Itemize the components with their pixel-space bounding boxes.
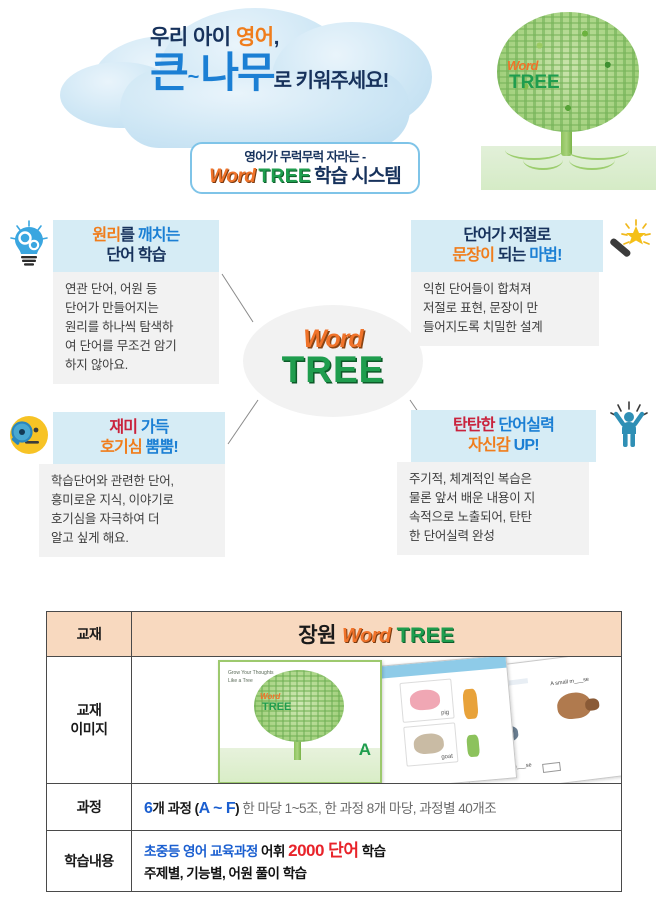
row-label-content: 학습내용: [47, 831, 132, 892]
heading-seg: 재미: [109, 419, 141, 436]
heading-seg: 단어가 저절로: [463, 227, 550, 244]
farmer-illustration: [462, 688, 479, 719]
hero-line1-suffix: ,: [274, 26, 279, 49]
heading-seg: 단어 학습: [106, 247, 165, 264]
feature-heading-line: 재미 가득: [63, 418, 215, 438]
table-row-image: 교재 이미지 A small m___se A small m___se A _…: [47, 657, 622, 784]
heading-seg: 문장이: [452, 247, 497, 264]
row-label-image: 교재 이미지: [47, 657, 132, 784]
cover-level-badge: A: [359, 740, 371, 760]
hero-big-word-a: 큰: [150, 49, 187, 96]
cover-word-label: Word: [260, 692, 280, 701]
feature-description: 연관 단어, 어원 등 단어가 만들어지는 원리를 하나씩 탐색하 여 단어를 …: [53, 272, 219, 384]
feature-description: 익힌 단어들이 합쳐져 저절로 표현, 문장이 만 들어지도록 치밀한 설계: [411, 272, 599, 346]
feature-diagram: Word TREE: [0, 212, 666, 602]
subtitle-brand-line: WordTREE학습 시스템: [192, 165, 418, 189]
content-seg-count: 2000 단어: [288, 841, 358, 860]
feature-card-curiosity: 재미 가득 호기심 뿜뿜! 학습단어와 관련한 단어, 흥미로운 지식, 이야기…: [53, 412, 239, 557]
hero-line1-prefix: 우리 아이: [150, 26, 236, 49]
subtitle-top-text: 영어가 무럭무럭 자라는 -: [192, 149, 418, 165]
content-seg: 주제별, 기능별, 어원 풀이 학습: [144, 866, 307, 881]
hero-tilde: ~: [187, 66, 201, 88]
heading-seg: 원리: [92, 227, 120, 244]
subtitle-callout-box: 영어가 무럭무럭 자라는 - WordTREE학습 시스템: [190, 142, 420, 194]
heading-seg: 되는: [498, 247, 530, 264]
lightbulb-gears-icon: [4, 218, 54, 268]
heading-seg: UP!: [514, 437, 539, 454]
heading-seg: 탄탄한: [453, 417, 498, 434]
brand-word-text: Word: [209, 166, 255, 187]
hero-headline-line1: 우리 아이 영어,: [150, 26, 450, 49]
feature-heading-line: 탄탄한 단어실력: [421, 416, 586, 436]
heading-seg: 깨치는: [138, 227, 180, 244]
word-cloud-tree-illustration: Word TREE: [481, 10, 656, 190]
hero-headline: 우리 아이 영어, 큰~나무로 키워주세요!: [150, 26, 450, 95]
table-header-label: 교재: [47, 612, 132, 657]
feature-card-principle: 원리를 깨치는 단어 학습 연관 단어, 어원 등 단어가 만들어지는 원리를 …: [53, 220, 219, 384]
heading-seg: 마법!: [529, 247, 561, 264]
textbook-image-cell: A small m___se A small m___se A ____ and…: [132, 657, 622, 784]
course-description-cell: 6개 과정 (A ~ F) 한 마당 1~5조, 한 과정 8개 마당, 과정별…: [132, 784, 622, 831]
cheering-person-icon: [604, 400, 654, 450]
feature-heading: 재미 가득 호기심 뿜뿜!: [53, 412, 225, 464]
course-seg-detail: 한 마당 1~5조, 한 과정 8개 마당, 과정별 40개조: [239, 801, 496, 816]
puppy-illustration: [585, 698, 600, 712]
table-header-row: 교재 장원WordTREE: [47, 612, 622, 657]
corn-illustration: [466, 734, 480, 757]
hero-headline-line2: 큰~나무로 키워주세요!: [150, 51, 450, 95]
textbook-spec-table: 교재 장원WordTREE 교재 이미지 A small m___se A sm…: [46, 611, 622, 892]
flashcard-goat: goat: [403, 722, 458, 766]
subtitle-tail-text: 학습 시스템: [311, 166, 401, 187]
flashcard-label: goat: [441, 754, 453, 761]
feature-heading-line: 단어가 저절로: [421, 226, 593, 246]
table-header-title: 장원WordTREE: [132, 619, 621, 649]
row-label-course: 과정: [47, 784, 132, 831]
feature-card-sentence-magic: 단어가 저절로 문장이 되는 마법! 익힌 단어들이 합쳐져 저절로 표현, 문…: [411, 220, 603, 346]
table-row-content: 학습내용 초중등 영어 교육과정 어휘 2000 단어 학습 주제별, 기능별,…: [47, 831, 622, 892]
tree-root: [569, 150, 615, 170]
tree-art-word-label: Word: [507, 58, 538, 73]
center-logo-tree: TREE: [243, 349, 423, 391]
feature-heading-line: 단어 학습: [63, 246, 209, 266]
feature-heading-line: 문장이 되는 마법!: [421, 246, 593, 266]
feature-heading: 원리를 깨치는 단어 학습: [53, 220, 219, 272]
heading-seg: 를: [120, 227, 138, 244]
hero-banner: 우리 아이 영어, 큰~나무로 키워주세요! Word TREE 영어가 무럭무…: [0, 0, 666, 212]
content-seg: 초중등 영어 교육과정: [144, 844, 261, 859]
table-header-title-cell: 장원WordTREE: [132, 612, 622, 657]
feature-description: 주기적, 체계적인 복습은 물론 앞서 배운 내용이 지 속적으로 노출되어, …: [397, 462, 589, 555]
flashcard-label: pig: [441, 710, 450, 717]
heading-seg: 호기심: [100, 439, 145, 456]
hero-line1-accent: 영어: [236, 26, 274, 49]
header-title-tree: TREE: [391, 624, 455, 647]
heading-seg: 뿜뿜!: [146, 439, 178, 456]
heading-seg: 가득: [141, 419, 169, 436]
tree-root: [523, 150, 563, 170]
curious-face-magnifier-icon: [4, 410, 54, 460]
worksheet-box: [542, 762, 561, 773]
content-seg: 학습: [358, 844, 385, 859]
table-row-course: 과정 6개 과정 (A ~ F) 한 마당 1~5조, 한 과정 8개 마당, …: [47, 784, 622, 831]
flashcard-pig: pig: [399, 679, 454, 723]
course-seg: 개 과정 (: [152, 801, 198, 816]
content-line-2: 주제별, 기능별, 어원 풀이 학습: [144, 864, 621, 884]
tree-art-tree-label: TREE: [509, 72, 560, 94]
header-title-kr: 장원: [298, 624, 336, 647]
textbook-cover: Word TREE Grow Your Thoughts Like a Tree…: [218, 660, 382, 783]
hero-big-word-b: 나무: [200, 49, 273, 96]
center-brand-logo: Word TREE: [243, 305, 423, 417]
cover-tree-label: TREE: [262, 701, 291, 713]
content-description-cell: 초중등 영어 교육과정 어휘 2000 단어 학습 주제별, 기능별, 어원 풀…: [132, 831, 622, 892]
worksheet-line-1b: A small m___se: [550, 677, 589, 688]
feature-heading: 탄탄한 단어실력 자신감 UP!: [411, 410, 596, 462]
worksheet-blank: [508, 678, 528, 685]
feature-heading-line: 자신감 UP!: [421, 436, 586, 456]
goat-illustration: [413, 732, 445, 755]
heading-seg: 자신감: [468, 437, 513, 454]
cover-tagline: Grow Your Thoughts Like a Tree: [228, 670, 284, 685]
pig-illustration: [409, 689, 441, 712]
feature-description: 학습단어와 관련한 단어, 흥미로운 지식, 이야기로 호기심을 자극하여 더 …: [39, 464, 225, 557]
feature-heading-line: 호기심 뿜뿜!: [63, 438, 215, 458]
heading-seg: 단어실력: [498, 417, 554, 434]
content-seg: 어휘: [261, 844, 288, 859]
magic-wand-icon: [604, 218, 654, 268]
header-title-word: Word: [336, 625, 391, 647]
content-line-1: 초중등 영어 교육과정 어휘 2000 단어 학습: [144, 838, 621, 864]
textbook-image-stage: A small m___se A small m___se A ____ and…: [132, 657, 621, 783]
brand-tree-text: TREE: [255, 166, 311, 187]
course-seg-range: A ~ F: [199, 800, 235, 817]
feature-card-confidence: 탄탄한 단어실력 자신감 UP! 주기적, 체계적인 복습은 물론 앞서 배운 …: [411, 410, 603, 555]
feature-heading: 단어가 저절로 문장이 되는 마법!: [411, 220, 603, 272]
feature-heading-line: 원리를 깨치는: [63, 226, 209, 246]
hero-tail-text: 로 키워주세요!: [274, 70, 389, 92]
